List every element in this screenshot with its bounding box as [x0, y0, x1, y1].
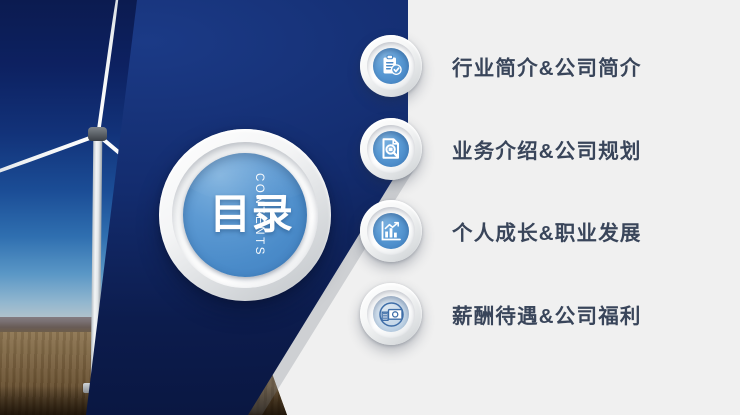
menu-item-label: 行业简介&公司简介: [452, 51, 642, 81]
medallion-core: 目录 CONTENTS: [183, 153, 307, 277]
medallion-title-en: CONTENTS: [253, 173, 265, 257]
document-search-icon: [373, 131, 409, 167]
contents-medallion: 目录 CONTENTS: [159, 129, 331, 301]
clipboard-check-icon: [373, 48, 409, 84]
presentation-slide: 目录 CONTENTS: [0, 0, 740, 415]
menu-icon-badge[interactable]: [360, 200, 422, 262]
hand-money-icon: [373, 296, 409, 332]
contents-menu: 行业简介&公司简介 业务介绍&公司规划: [360, 0, 740, 415]
menu-item-industry-company-intro[interactable]: 行业简介&公司简介: [360, 31, 642, 101]
menu-item-growth-career[interactable]: 个人成长&职业发展: [360, 196, 642, 266]
bar-chart-trend-icon: [373, 213, 409, 249]
medallion-title-cn: 目录: [210, 194, 294, 236]
turbine-base: [83, 383, 110, 393]
turbine-hub: [88, 127, 107, 141]
menu-item-business-planning[interactable]: 业务介绍&公司规划: [360, 114, 642, 184]
menu-item-label: 薪酬待遇&公司福利: [452, 299, 642, 329]
menu-icon-badge[interactable]: [360, 283, 422, 345]
menu-item-label: 业务介绍&公司规划: [452, 134, 642, 164]
turbine-blade: [96, 0, 122, 137]
menu-icon-badge[interactable]: [360, 35, 422, 97]
menu-item-salary-benefits[interactable]: 薪酬待遇&公司福利: [360, 279, 642, 349]
menu-icon-badge[interactable]: [360, 118, 422, 180]
turbine-blade: [0, 132, 101, 184]
menu-item-label: 个人成长&职业发展: [452, 216, 642, 246]
